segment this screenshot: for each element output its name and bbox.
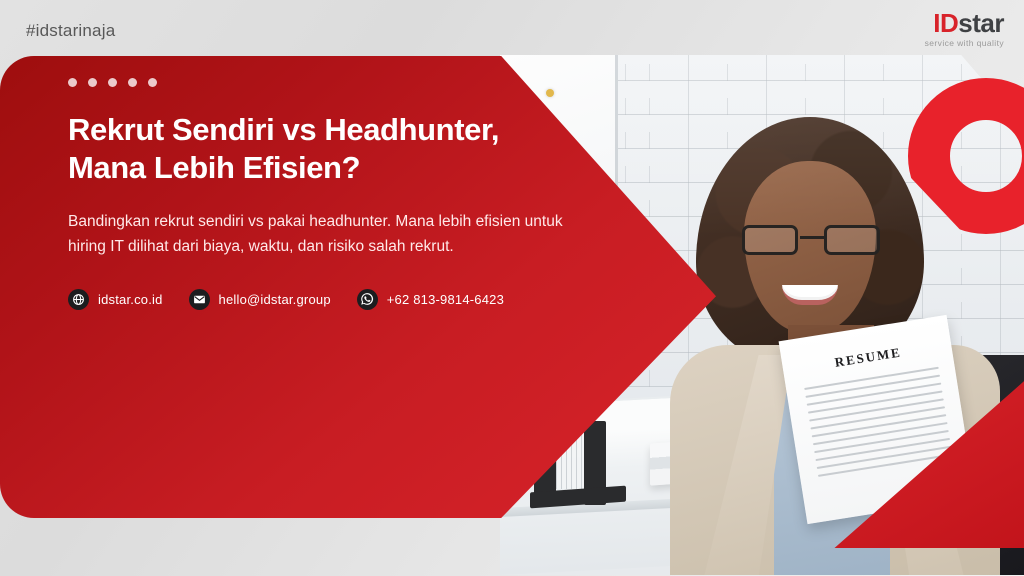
brand-logo: IDstar service with quality <box>925 10 1004 48</box>
envelope-icon <box>189 289 210 310</box>
headline-line-2: Mana Lebih Efisien? <box>68 149 580 187</box>
contact-website-label: idstar.co.id <box>98 292 163 307</box>
hashtag-label: #idstarinaja <box>26 21 115 41</box>
contact-row: idstar.co.id hello@idstar.group +62 <box>68 289 580 310</box>
lens-right <box>824 225 880 255</box>
logo-star-text: star <box>958 8 1004 38</box>
whatsapp-icon <box>357 289 378 310</box>
page-subtitle: Bandingkan rekrut sendiri vs pakai headh… <box>68 209 568 259</box>
contact-email[interactable]: hello@idstar.group <box>189 289 331 310</box>
globe-icon <box>68 289 89 310</box>
logo-wordmark: IDstar <box>925 10 1004 36</box>
dot <box>88 78 97 87</box>
glasses-bridge <box>800 236 824 239</box>
banner-canvas: RESUME Rekrut Sendiri vs Headhunter, Man… <box>0 0 1024 576</box>
dot <box>128 78 137 87</box>
page-title: Rekrut Sendiri vs Headhunter, Mana Lebih… <box>68 111 580 187</box>
contact-email-label: hello@idstar.group <box>219 292 331 307</box>
logo-tagline: service with quality <box>925 39 1004 48</box>
contact-whatsapp[interactable]: +62 813-9814-6423 <box>357 289 504 310</box>
contact-website[interactable]: idstar.co.id <box>68 289 163 310</box>
contact-phone-label: +62 813-9814-6423 <box>387 292 504 307</box>
lens-left <box>742 225 798 255</box>
resume-body-lines <box>804 367 952 477</box>
dot <box>108 78 117 87</box>
content-card-body: Rekrut Sendiri vs Headhunter, Mana Lebih… <box>68 78 580 310</box>
dot <box>148 78 157 87</box>
dots-decoration <box>68 78 580 87</box>
glasses-icon <box>740 225 882 255</box>
logo-id-text: ID <box>933 8 958 38</box>
headline-line-1: Rekrut Sendiri vs Headhunter, <box>68 112 499 147</box>
dot <box>68 78 77 87</box>
